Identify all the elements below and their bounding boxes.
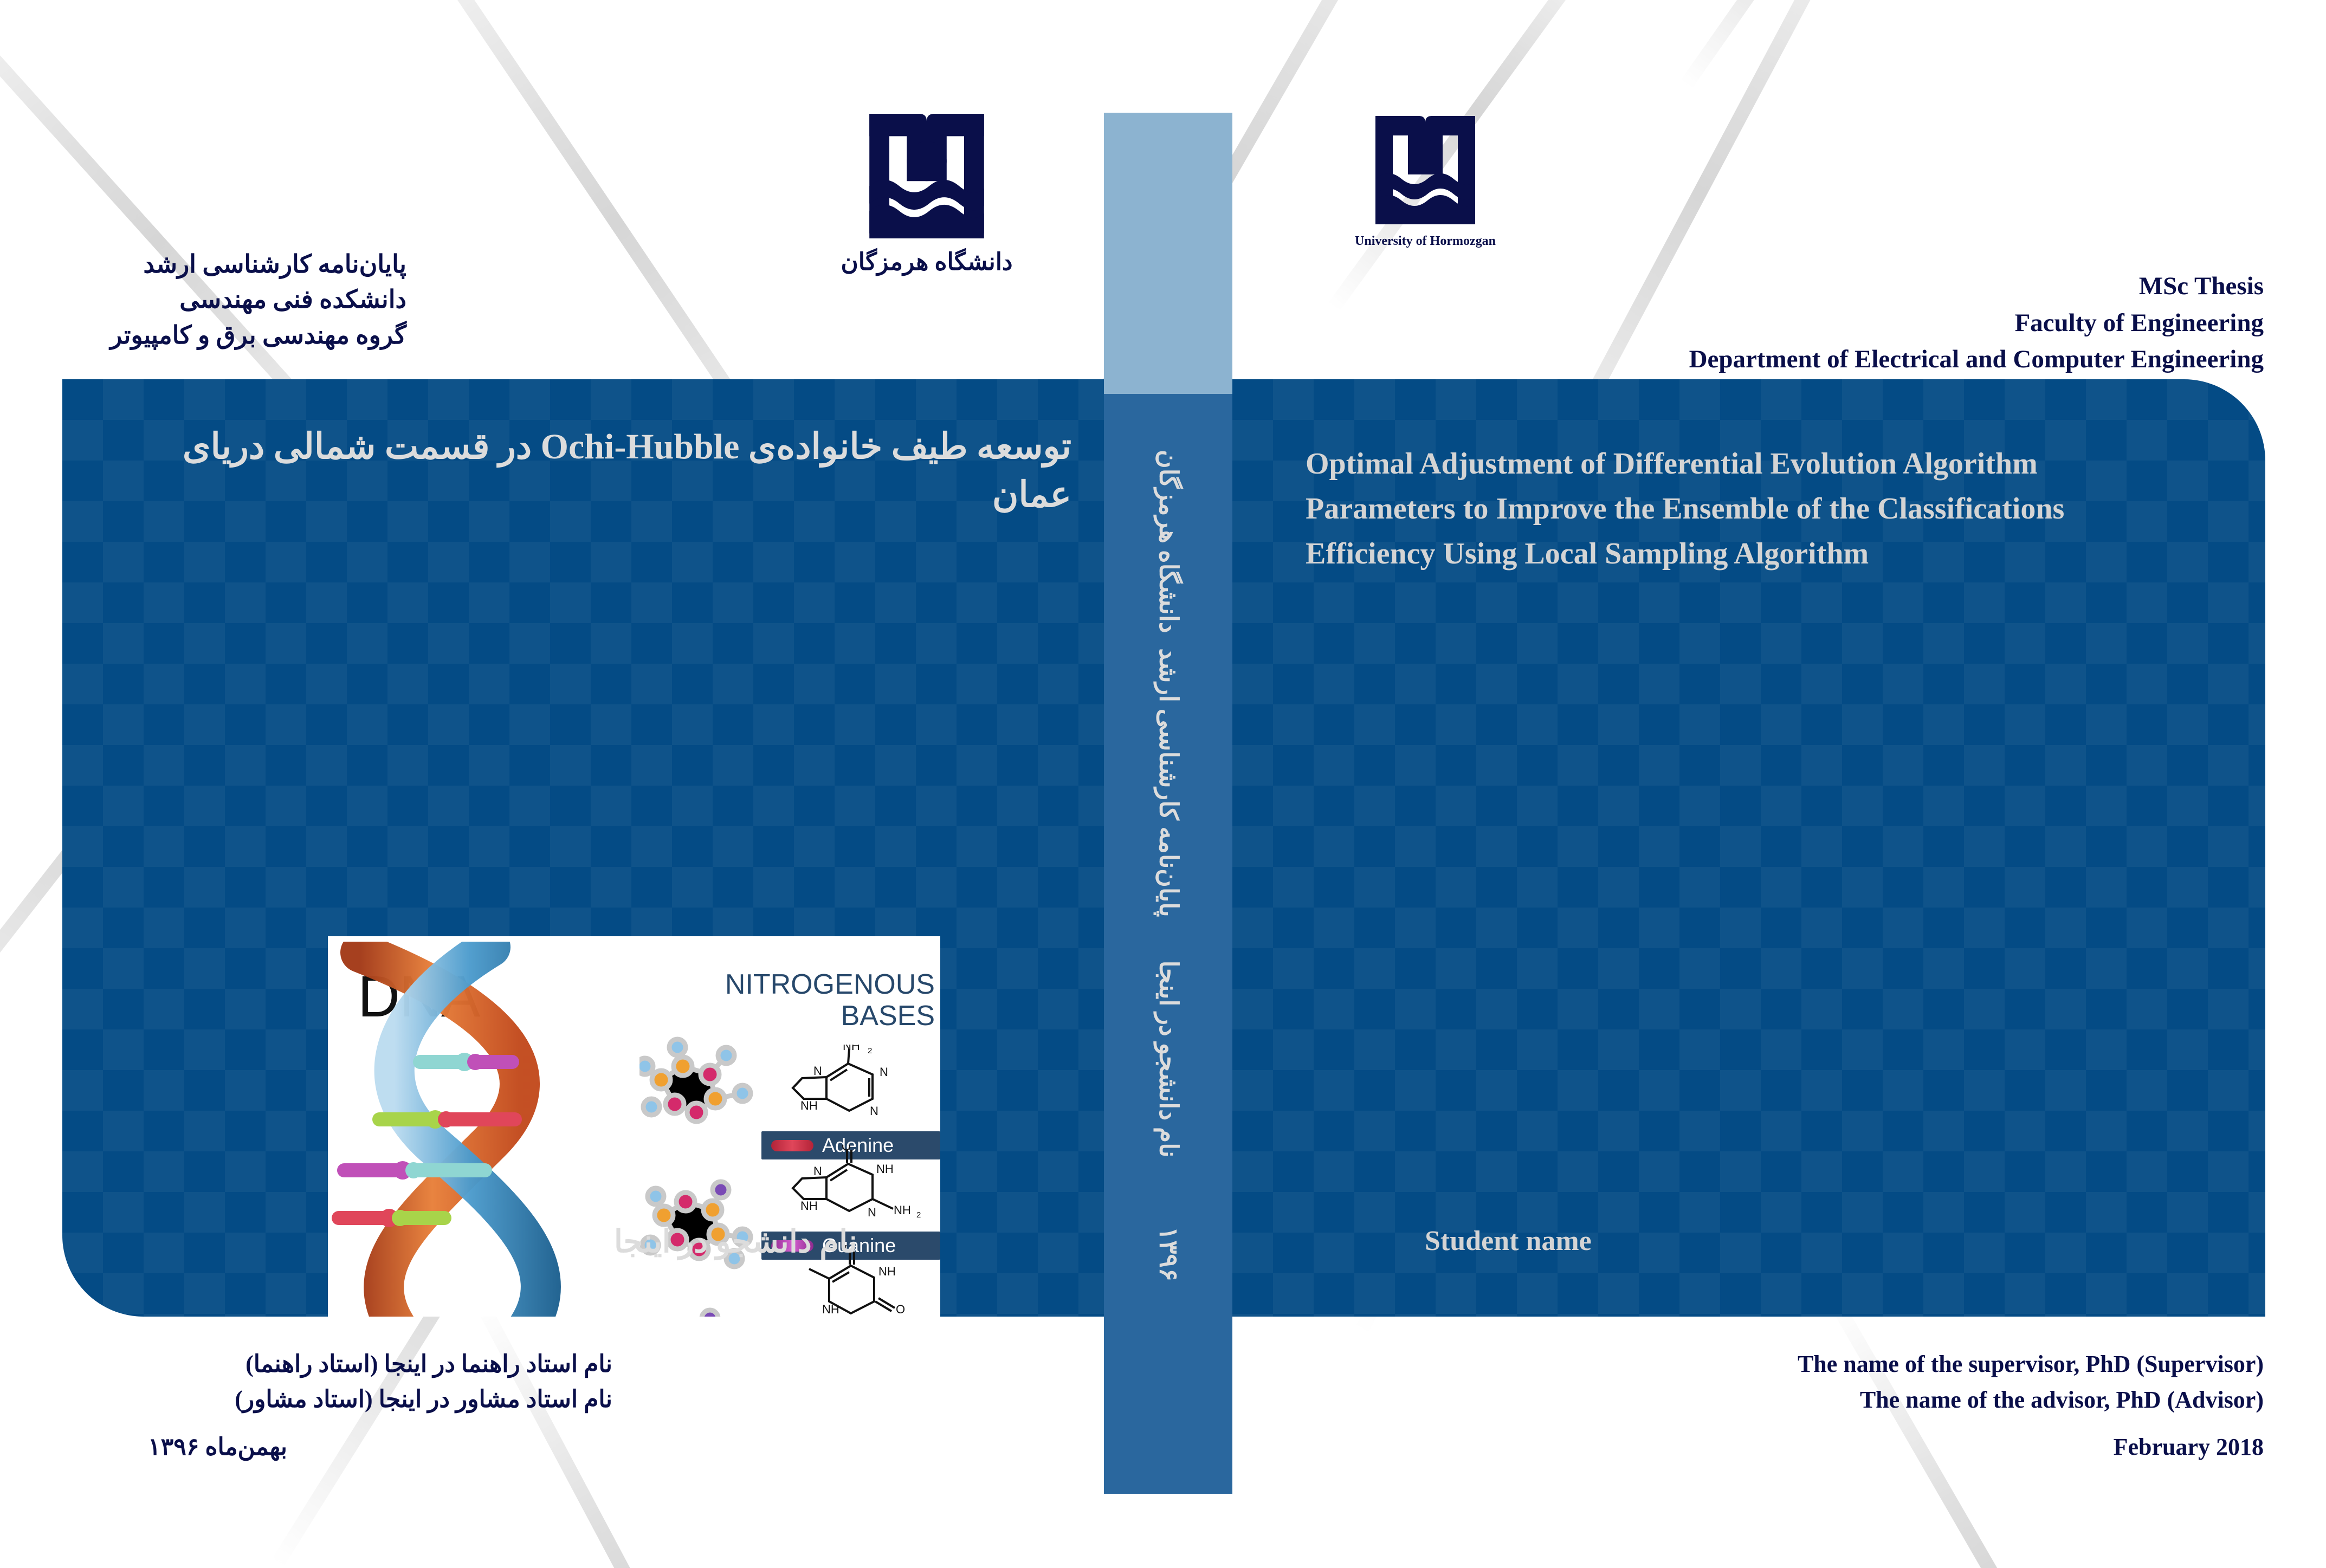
spine-line-university: دانشگاه هرمزگان: [1153, 450, 1183, 633]
back-header-line-1: پایان‌نامه کارشناسی ارشد: [70, 247, 406, 282]
front-title-line-2: Parameters to Improve the Ensemble of th…: [1306, 487, 2183, 532]
logo-caption-persian: دانشگاه هرمزگان: [816, 248, 1038, 276]
spine-top-block: [1104, 113, 1232, 394]
watermark-streak: [1680, 0, 1972, 89]
svg-text:NH: NH: [800, 1199, 818, 1213]
university-logo-english: University of Hormozgan: [1314, 108, 1536, 249]
dna-subtitle-line-2: BASES: [725, 1000, 935, 1032]
svg-text:NH: NH: [800, 1099, 818, 1112]
watermark-streak: [475, 1300, 818, 1568]
svg-text:2: 2: [868, 1046, 872, 1055]
svg-text:N: N: [870, 1104, 878, 1118]
logo-caption-english: University of Hormozgan: [1314, 234, 1536, 249]
svg-text:N: N: [813, 1064, 822, 1078]
svg-text:NH: NH: [822, 1303, 839, 1316]
front-cover-title: Optimal Adjustment of Differential Evolu…: [1306, 442, 2183, 576]
svg-text:N: N: [813, 1164, 822, 1178]
front-cover-footer: The name of the supervisor, PhD (Supervi…: [1798, 1346, 2264, 1418]
hormozgan-logo-icon: [864, 108, 989, 244]
back-cover-student-name: نام دانشجو در اینجا: [614, 1223, 857, 1260]
front-title-line-3: Efficiency Using Local Sampling Algorith…: [1306, 532, 2183, 576]
svg-text:2: 2: [916, 1210, 921, 1220]
front-cover-student-name: Student name: [1425, 1225, 1592, 1257]
svg-text:NH: NH: [876, 1162, 894, 1176]
front-cover-header: MSc Thesis Faculty of Engineering Depart…: [1689, 268, 2264, 378]
back-cover-date: بهمن‌ماه ۱۳۹۶: [70, 1433, 287, 1461]
back-header-line-3: گروه مهندسی برق و کامپیوتر: [70, 318, 406, 353]
back-cover-panel: توسعه طیف خانواده‌ی Ochi-Hubble در قسمت …: [62, 379, 1104, 1317]
svg-text:NH: NH: [843, 1045, 860, 1053]
back-header-line-2: دانشکده فنی مهندسی: [70, 282, 406, 317]
dna-figure-subtitle: NITROGENOUS BASES: [725, 969, 935, 1032]
page-background: پایان‌نامه کارشناسی ارشد دانشکده فنی مهن…: [0, 0, 2326, 1568]
adenine-formula-icon: NH 2 N N NH N: [761, 1045, 924, 1129]
dna-base-pairs-icon: [328, 936, 621, 1317]
svg-text:N: N: [880, 1065, 888, 1079]
front-cover-date: February 2018: [2114, 1433, 2264, 1461]
front-header-line-2: Faculty of Engineering: [1689, 305, 2264, 342]
nitrogenous-base-legend: NH 2 N N NH N Adenine: [761, 1045, 940, 1317]
spine-panel: دانشگاه هرمزگان پایان‌نامه کارشناسی ارشد…: [1104, 394, 1232, 1494]
front-header-line-3: Department of Electrical and Computer En…: [1689, 341, 2264, 378]
university-logo-persian: دانشگاه هرمزگان: [816, 108, 1038, 276]
svg-text:O: O: [896, 1303, 905, 1316]
back-footer-advisor: نام استاد مشاور در اینجا (استاد مشاور): [70, 1382, 612, 1417]
spine-line-thesis: پایان‌نامه کارشناسی ارشد: [1153, 648, 1183, 917]
spine-line-year: ۱۳۹۶: [1153, 1227, 1183, 1281]
spine-line-student: نام دانشجو در اینجا: [1153, 961, 1183, 1158]
back-cover-header: پایان‌نامه کارشناسی ارشد دانشکده فنی مهن…: [70, 247, 406, 353]
front-footer-advisor: The name of the advisor, PhD (Advisor): [1798, 1382, 2264, 1418]
svg-text:NH: NH: [878, 1265, 896, 1278]
back-cover-title: توسعه طیف خانواده‌ی Ochi-Hubble در قسمت …: [96, 423, 1071, 519]
hormozgan-logo-icon: [1371, 108, 1479, 232]
molecule-models-icon: [639, 1036, 764, 1317]
dna-subtitle-line-1: NITROGENOUS: [725, 969, 935, 1000]
front-footer-supervisor: The name of the supervisor, PhD (Supervi…: [1798, 1346, 2264, 1382]
front-cover-panel: Optimal Adjustment of Differential Evolu…: [1232, 379, 2265, 1317]
back-footer-supervisor: نام استاد راهنما در اینجا (استاد راهنما): [70, 1346, 612, 1382]
svg-text:O: O: [842, 1145, 851, 1153]
adenine-structure: NH 2 N N NH N Adenine: [761, 1045, 940, 1145]
svg-text:N: N: [868, 1206, 876, 1219]
guanine-formula-icon: O N NH NH N NH 2: [761, 1145, 924, 1229]
front-title-line-1: Optimal Adjustment of Differential Evolu…: [1306, 442, 2183, 487]
back-cover-footer: نام استاد راهنما در اینجا (استاد راهنما)…: [70, 1346, 612, 1417]
svg-text:NH: NH: [894, 1203, 911, 1217]
front-header-line-1: MSc Thesis: [1689, 268, 2264, 305]
